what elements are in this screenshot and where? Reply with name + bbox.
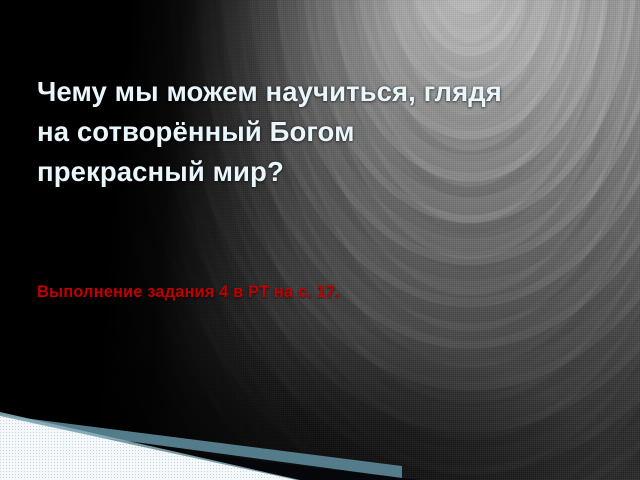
slide-title: Чему мы можем научиться, глядя на сотвор…	[37, 72, 507, 192]
slide-subtitle: Выполнение задания 4 в РТ на с. 17.	[37, 283, 557, 302]
slide-canvas: Чему мы можем научиться, глядя на сотвор…	[0, 0, 640, 480]
